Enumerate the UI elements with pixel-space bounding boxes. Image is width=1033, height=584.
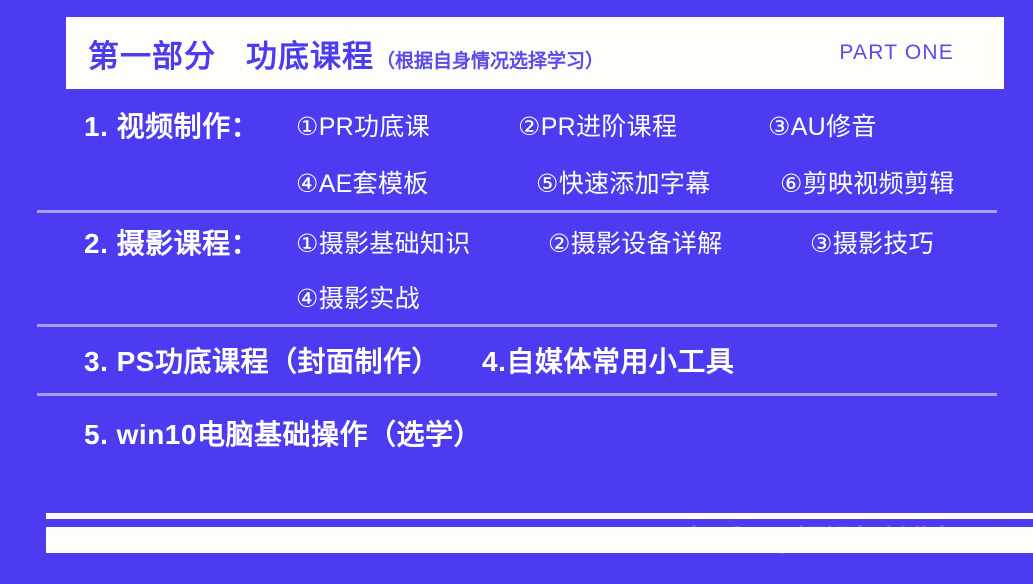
section-row-video: 1. 视频制作： ①PR功底课 ②PR进阶课程 ③AU修音 ④AE套模板 ⑤快速…: [0, 96, 1033, 210]
section-row-ps-tools: 3. PS功底课程（封面制作） 4.自媒体常用小工具: [0, 327, 1033, 393]
section-items: ①PR功底课 ②PR进阶课程 ③AU修音: [296, 107, 1033, 143]
section-line: 3. PS功底课程（封面制作） 4.自媒体常用小工具: [0, 327, 1033, 393]
header-card: 第一部分 功底课程 （根据自身情况选择学习） PART ONE: [66, 17, 1004, 89]
list-item: ①PR功底课: [296, 107, 518, 143]
watermark: 知乎 @短视频创业赵元甲: [689, 518, 1017, 557]
list-item: ⑥剪映视频剪辑: [780, 164, 955, 200]
list-item: ⑤快速添加字幕: [536, 164, 780, 200]
section-line: 1. 视频制作： ①PR功底课 ②PR进阶课程 ③AU修音: [0, 96, 1033, 154]
header-note: （根据自身情况选择学习）: [376, 46, 604, 73]
section-label-ps: 3. PS功底课程（封面制作）: [84, 340, 482, 380]
section-items: ④摄影实战: [296, 279, 1033, 315]
header-title: 功底课程: [246, 31, 374, 76]
section-line: 2. 摄影课程： ①摄影基础知识 ②摄影设备详解 ③摄影技巧: [0, 213, 1033, 270]
content-list: 1. 视频制作： ①PR功底课 ②PR进阶课程 ③AU修音 ④AE套模板 ⑤快速…: [0, 96, 1033, 470]
watermark-handle: @短视频创业赵元甲: [770, 525, 1017, 555]
section-label-photography: 2. 摄影课程：: [84, 222, 296, 262]
watermark-site: 知乎: [689, 525, 744, 555]
section-line: ④摄影实战: [0, 270, 1033, 324]
section-row-photography: 2. 摄影课程： ①摄影基础知识 ②摄影设备详解 ③摄影技巧 ④摄影实战: [0, 213, 1033, 324]
list-item: ②摄影设备详解: [548, 224, 810, 260]
header-part-label: 第一部分: [88, 31, 216, 76]
section-items: ①摄影基础知识 ②摄影设备详解 ③摄影技巧: [296, 224, 1033, 260]
list-item: ③AU修音: [768, 107, 877, 143]
section-row-win10: 5. win10电脑基础操作（选学）: [0, 396, 1033, 470]
slide-canvas: 第一部分 功底课程 （根据自身情况选择学习） PART ONE 1. 视频制作：…: [0, 0, 1033, 584]
header-part-english: PART ONE: [839, 41, 986, 65]
list-item: ④AE套模板: [296, 164, 536, 200]
section-items: ④AE套模板 ⑤快速添加字幕 ⑥剪映视频剪辑: [296, 164, 1033, 200]
section-line: ④AE套模板 ⑤快速添加字幕 ⑥剪映视频剪辑: [0, 154, 1033, 210]
list-item: ②PR进阶课程: [518, 107, 768, 143]
list-item: ③摄影技巧: [810, 224, 934, 260]
section-label-win10: 5. win10电脑基础操作（选学）: [84, 413, 482, 453]
section-line: 5. win10电脑基础操作（选学）: [0, 396, 1033, 470]
section-label-video: 1. 视频制作：: [84, 105, 296, 145]
section-label-tools: 4.自媒体常用小工具: [482, 340, 734, 380]
header-title-group: 第一部分 功底课程 （根据自身情况选择学习）: [88, 31, 839, 76]
list-item: ④摄影实战: [296, 279, 420, 315]
list-item: ①摄影基础知识: [296, 224, 548, 260]
